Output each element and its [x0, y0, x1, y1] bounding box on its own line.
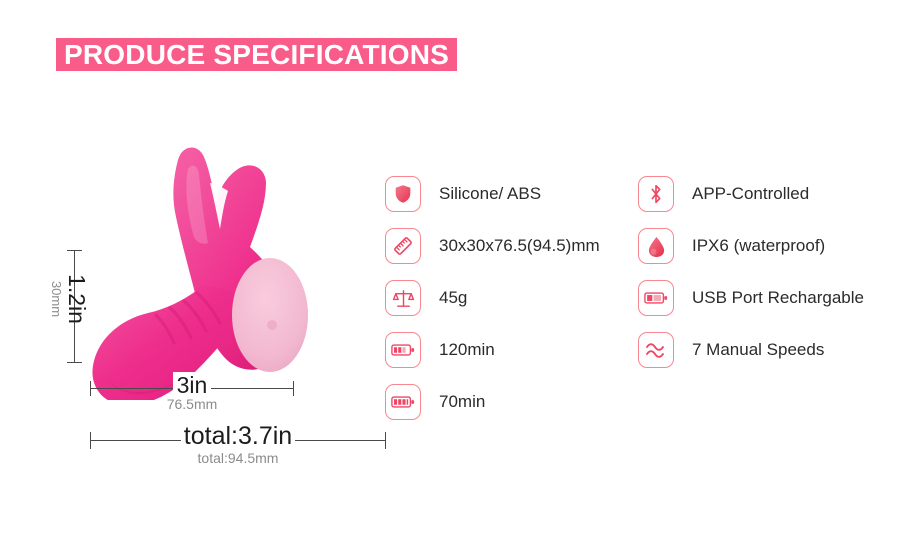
- page-title: PRODUCE SPECIFICATIONS: [64, 41, 449, 69]
- dimension-width-inches-wrap: 3in: [88, 374, 296, 397]
- spec-row-runtime: 120min: [385, 324, 635, 376]
- ruler-icon: [385, 228, 421, 264]
- spec-column-right: APP-Controlled IPX6 (waterproof): [638, 168, 885, 376]
- battery-half-icon: [385, 332, 421, 368]
- spec-label-runtime: 120min: [439, 341, 495, 360]
- dimension-height: 1.2in 30mm: [38, 244, 94, 368]
- spec-column-left: Silicone/ ABS 3: [385, 168, 635, 428]
- spec-label-speeds: 7 Manual Speeds: [692, 341, 824, 360]
- spec-row-waterproof: IPX6 (waterproof): [638, 220, 885, 272]
- dimension-width-mm: 76.5mm: [88, 397, 296, 411]
- shield-icon: [385, 176, 421, 212]
- product-image: [70, 125, 370, 400]
- spec-label-usb-charging: USB Port Rechargable: [692, 289, 864, 308]
- dimension-width: 3in 76.5mm: [88, 374, 296, 416]
- spec-row-size: 30x30x76.5(94.5)mm: [385, 220, 635, 272]
- spec-row-app-control: APP-Controlled: [638, 168, 885, 220]
- dimension-total-inches-wrap: total:3.7in: [88, 424, 388, 449]
- dimension-height-mm: 30mm: [50, 281, 63, 317]
- spec-label-weight: 45g: [439, 289, 467, 308]
- dimension-total-mm: total:94.5mm: [88, 451, 388, 465]
- dimension-height-cap-bottom: [67, 362, 82, 363]
- dimension-total: total:3.7in total:94.5mm: [88, 426, 388, 470]
- spec-label-waterproof: IPX6 (waterproof): [692, 237, 825, 256]
- water-drop-icon: [638, 228, 674, 264]
- spec-row-material: Silicone/ ABS: [385, 168, 635, 220]
- dimension-height-inches: 1.2in: [65, 274, 88, 324]
- page-title-banner: PRODUCE SPECIFICATIONS: [56, 38, 457, 71]
- spec-row-usb-charging: USB Port Rechargable: [638, 272, 885, 324]
- battery-full-icon: [385, 384, 421, 420]
- dimension-width-inches: 3in: [173, 372, 212, 398]
- dimension-total-inches: total:3.7in: [181, 422, 295, 450]
- spec-row-charge-time: 70min: [385, 376, 635, 428]
- spec-row-weight: 45g: [385, 272, 635, 324]
- spec-label-material: Silicone/ ABS: [439, 185, 541, 204]
- scales-icon: [385, 280, 421, 316]
- product-control-panel: [232, 258, 308, 372]
- bluetooth-icon: [638, 176, 674, 212]
- spec-label-size: 30x30x76.5(94.5)mm: [439, 237, 600, 256]
- battery-usb-icon: [638, 280, 674, 316]
- spec-label-app-control: APP-Controlled: [692, 185, 809, 204]
- double-wave-icon: [638, 332, 674, 368]
- spec-label-charge-time: 70min: [439, 393, 485, 412]
- spec-row-speeds: 7 Manual Speeds: [638, 324, 885, 376]
